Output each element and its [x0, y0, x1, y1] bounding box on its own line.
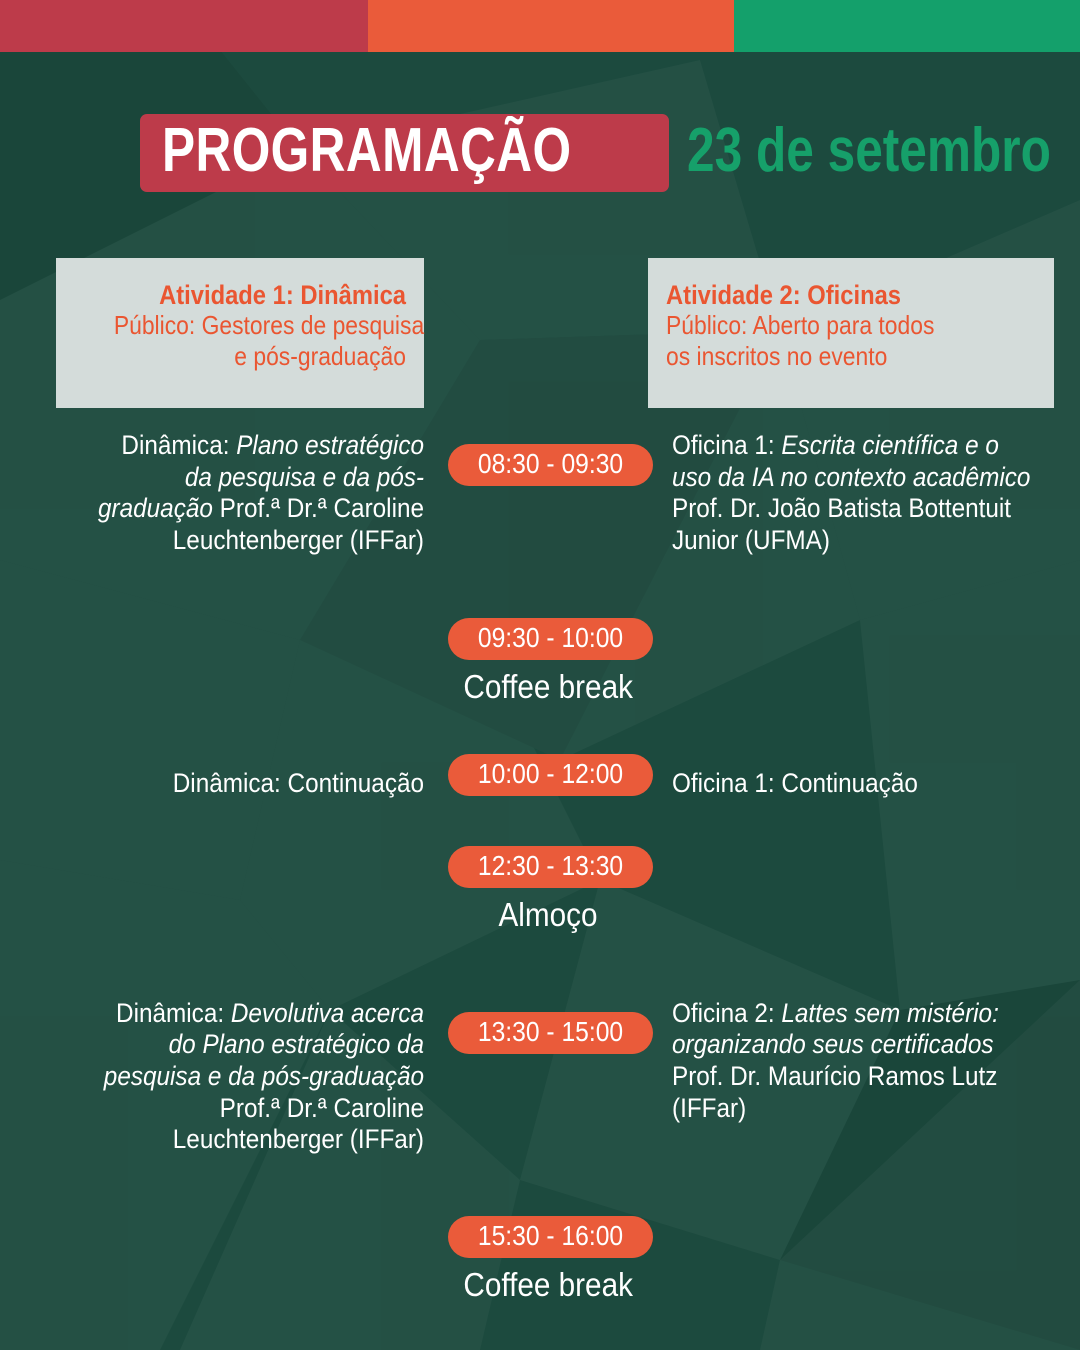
time-badge: 10:00 - 12:00 [448, 754, 653, 796]
row-spacer [0, 800, 1080, 846]
activity-prefix: Dinâmica: [116, 998, 231, 1028]
activity-1-title: Atividade 1: Dinâmica [114, 280, 406, 310]
time-badge: 12:30 - 13:30 [448, 846, 653, 888]
break-label-text: Coffee break [463, 1266, 633, 1304]
poster-title-row: PROGRAMAÇÃO 23 de setembro [140, 114, 1080, 192]
row-spacer [0, 934, 1080, 998]
schedule-cell-right: Oficina 2: Lattes sem mistério: organiza… [672, 998, 1078, 1124]
activity-description: Oficina 1: Escrita científica e o uso da… [672, 430, 1037, 556]
row-spacer [0, 1156, 1080, 1216]
time-badge: 13:30 - 15:00 [448, 1012, 653, 1054]
row-spacer [0, 556, 1080, 618]
activity-description: Oficina 2: Lattes sem mistério: organiza… [672, 998, 1037, 1124]
break-label: Almoço [448, 896, 648, 934]
schedule-grid: Dinâmica: Plano estratégico da pesquisa … [0, 430, 1080, 1304]
activity-2-title: Atividade 2: Oficinas [666, 280, 992, 310]
top-bar-green [734, 0, 1080, 52]
activity-1-audience-line-2: e pós-graduação [114, 341, 406, 372]
time-badge: 08:30 - 09:30 [448, 444, 653, 486]
schedule-cell-right: Oficina 1: Escrita científica e o uso da… [672, 430, 1078, 556]
activity-2-audience-line-1: Público: Aberto para todos [666, 310, 992, 341]
schedule-poster: PROGRAMAÇÃO 23 de setembro Atividade 1: … [0, 0, 1080, 1350]
time-badge-label: 10:00 - 12:00 [478, 760, 623, 788]
schedule-row-break: 12:30 - 13:30 Almoço [0, 846, 1080, 934]
top-bar-orange [368, 0, 734, 52]
activity-description: Dinâmica: Continuação [93, 768, 424, 800]
row-spacer [0, 706, 1080, 754]
schedule-row: Dinâmica: Continuação 10:00 - 12:00 Ofic… [0, 754, 1080, 800]
page-title: PROGRAMAÇÃO [162, 122, 550, 180]
time-badge-label: 09:30 - 10:00 [478, 624, 623, 652]
time-badge-label: 08:30 - 09:30 [478, 450, 623, 478]
schedule-cell-right: Oficina 1: Continuação [672, 768, 1078, 800]
schedule-row-break: 09:30 - 10:00 Coffee break [0, 618, 1080, 706]
top-color-bars [0, 0, 1080, 52]
time-badge-label: 13:30 - 15:00 [478, 1018, 623, 1046]
schedule-cell-left: Dinâmica: Devolutiva acerca do Plano est… [56, 998, 424, 1156]
activity-description: Dinâmica: Plano estratégico da pesquisa … [93, 430, 424, 556]
activity-speaker: Prof. Dr. João Batista Bottentuit Junior… [672, 493, 1011, 555]
top-bar-red [0, 0, 368, 52]
activity-speaker: Prof. Dr. Maurício Ramos Lutz (IFFar) [672, 1061, 997, 1123]
time-badge-label: 15:30 - 16:00 [478, 1222, 623, 1250]
activity-description: Oficina 1: Continuação [672, 768, 1037, 800]
activity-2-header-box: Atividade 2: Oficinas Público: Aberto pa… [648, 258, 1054, 408]
activity-1-audience-line-1: Público: Gestores de pesquisa [114, 310, 406, 341]
time-badge-label: 12:30 - 13:30 [478, 852, 623, 880]
schedule-row-break: 15:30 - 16:00 Coffee break [0, 1216, 1080, 1304]
schedule-cell-time: 09:30 - 10:00 Coffee break [448, 618, 648, 706]
activity-prefix: Oficina 1: [672, 430, 781, 460]
activity-prefix: Dinâmica: [121, 430, 236, 460]
break-label: Coffee break [448, 668, 648, 706]
break-label: Coffee break [448, 1266, 648, 1304]
schedule-cell-time: 15:30 - 16:00 Coffee break [448, 1216, 648, 1304]
activity-speaker: Prof.ª Dr.ª Caroline Leuchtenberger (IFF… [173, 1093, 424, 1155]
event-date: 23 de setembro [687, 122, 1080, 180]
programacao-badge: PROGRAMAÇÃO [140, 114, 669, 192]
activity-description: Dinâmica: Devolutiva acerca do Plano est… [93, 998, 424, 1156]
schedule-row: Dinâmica: Devolutiva acerca do Plano est… [0, 998, 1080, 1156]
schedule-cell-time: 08:30 - 09:30 [448, 444, 648, 486]
time-badge: 15:30 - 16:00 [448, 1216, 653, 1258]
activity-2-audience-line-2: os inscritos no evento [666, 341, 992, 372]
time-badge: 09:30 - 10:00 [448, 618, 653, 660]
break-label-text: Almoço [498, 896, 597, 934]
schedule-row: Dinâmica: Plano estratégico da pesquisa … [0, 430, 1080, 556]
schedule-cell-left: Dinâmica: Plano estratégico da pesquisa … [56, 430, 424, 556]
schedule-cell-time: 10:00 - 12:00 [448, 754, 648, 796]
activity-prefix: Oficina 2: [672, 998, 781, 1028]
activity-1-header-box: Atividade 1: Dinâmica Público: Gestores … [56, 258, 424, 408]
schedule-cell-time: 13:30 - 15:00 [448, 1012, 648, 1054]
break-label-text: Coffee break [463, 668, 633, 706]
schedule-cell-left: Dinâmica: Continuação [56, 768, 424, 800]
schedule-cell-time: 12:30 - 13:30 Almoço [448, 846, 648, 934]
